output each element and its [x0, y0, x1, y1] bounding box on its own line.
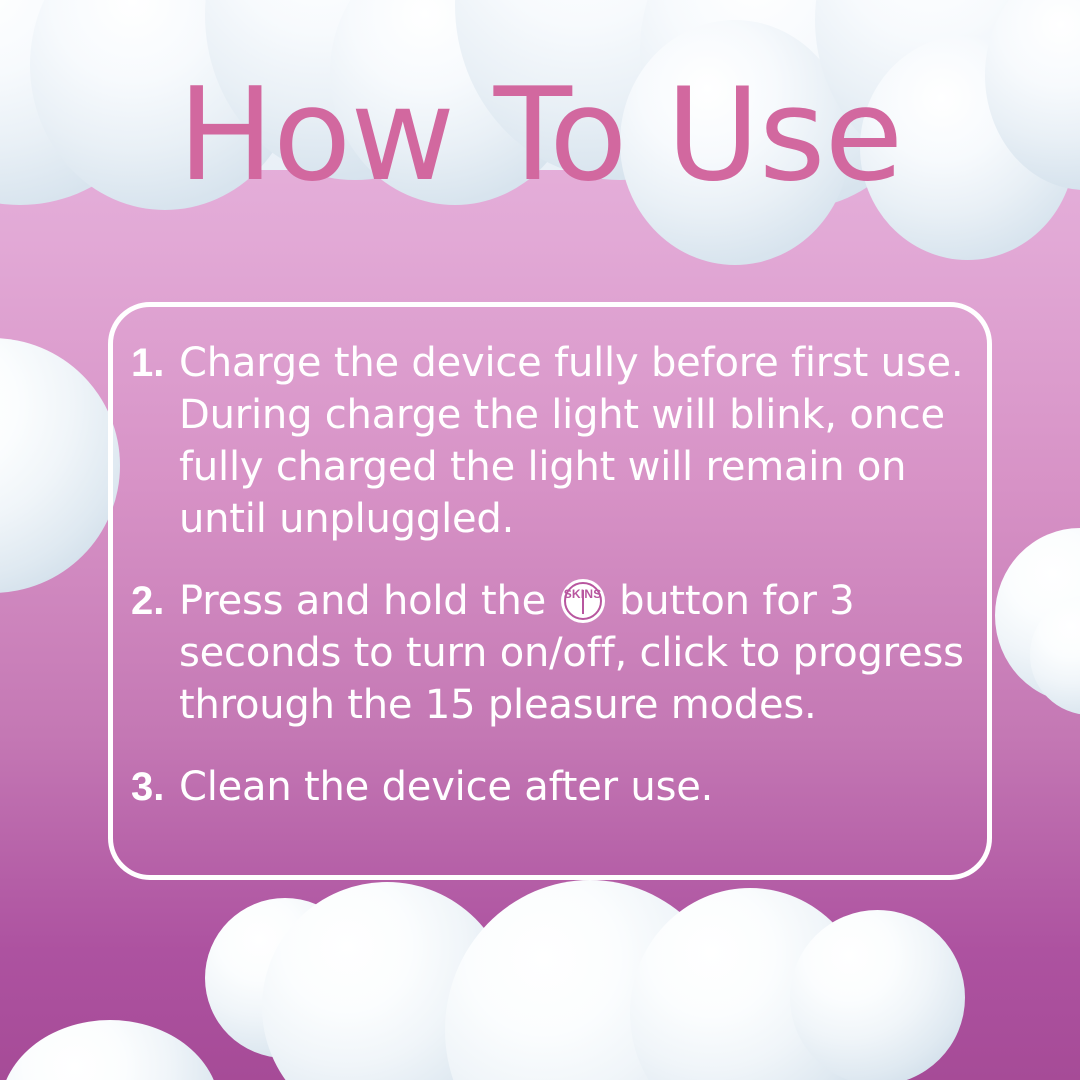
step-text-segment: Press and hold the	[179, 578, 559, 624]
cloud-bottom-sphere-4	[790, 910, 965, 1080]
step-text: Clean the device after use.	[179, 761, 969, 813]
skins-logo-icon: SKINS	[561, 579, 605, 623]
cloud-left-sphere-0	[0, 338, 120, 593]
cloud-bottom-sphere-5	[0, 1020, 220, 1080]
page-title: How To Use	[0, 72, 1080, 200]
step-number: 3.	[123, 761, 179, 813]
step-text: Press and hold the SKINS button for 3 se…	[179, 575, 969, 731]
instruction-step-1: 1.Charge the device fully before first u…	[123, 337, 969, 545]
instruction-step-3: 3.Clean the device after use.	[123, 761, 969, 813]
step-number: 1.	[123, 337, 179, 389]
instruction-step-2: 2.Press and hold the SKINS button for 3 …	[123, 575, 969, 731]
skins-logo-label: SKINS	[561, 588, 605, 600]
instructions-card: 1.Charge the device fully before first u…	[108, 302, 992, 880]
step-text: Charge the device fully before first use…	[179, 337, 969, 545]
instruction-step-list: 1.Charge the device fully before first u…	[123, 337, 969, 813]
step-number: 2.	[123, 575, 179, 627]
step-text-segment: Clean the device after use.	[179, 764, 713, 810]
step-text-segment: Charge the device fully before first use…	[179, 340, 963, 542]
poster-canvas: How To Use 1.Charge the device fully bef…	[0, 0, 1080, 1080]
